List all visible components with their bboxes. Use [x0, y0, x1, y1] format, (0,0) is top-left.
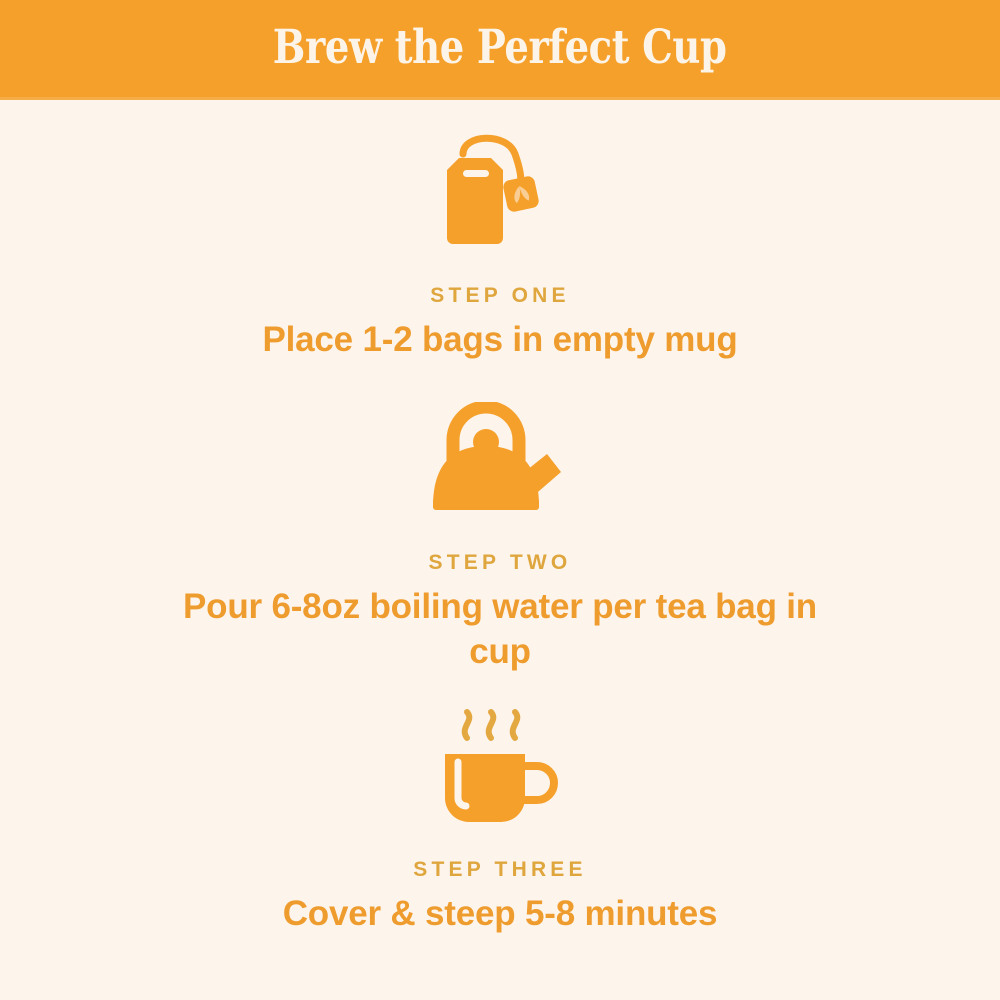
step-one-icon-wrap: [425, 128, 575, 263]
page-title: Brew the Perfect Cup: [273, 24, 727, 71]
step-three-icon-wrap: [425, 704, 575, 829]
step-two-text: Pour 6-8oz boiling water per tea bag in …: [180, 585, 820, 674]
step-three-text: Cover & steep 5-8 minutes: [283, 892, 718, 936]
step-one-label: STEP ONE: [430, 285, 569, 306]
step-item-two: STEP TWO Pour 6-8oz boiling water per te…: [0, 400, 1000, 674]
step-three-label: STEP THREE: [413, 859, 586, 880]
step-one-text: Place 1-2 bags in empty mug: [262, 318, 737, 362]
step-two-label: STEP TWO: [429, 552, 572, 573]
step-two-icon-wrap: [425, 400, 575, 520]
header-banner: Brew the Perfect Cup: [0, 0, 1000, 100]
steps-list: STEP ONE Place 1-2 bags in empty mug: [0, 100, 1000, 1000]
step-item-one: STEP ONE Place 1-2 bags in empty mug: [0, 128, 1000, 362]
steaming-mug-icon: [425, 704, 575, 829]
tea-bag-icon: [425, 128, 575, 263]
step-item-three: STEP THREE Cover & steep 5-8 minutes: [0, 704, 1000, 936]
infographic-page: Brew the Perfect Cup: [0, 0, 1000, 1000]
kettle-icon: [425, 402, 575, 520]
